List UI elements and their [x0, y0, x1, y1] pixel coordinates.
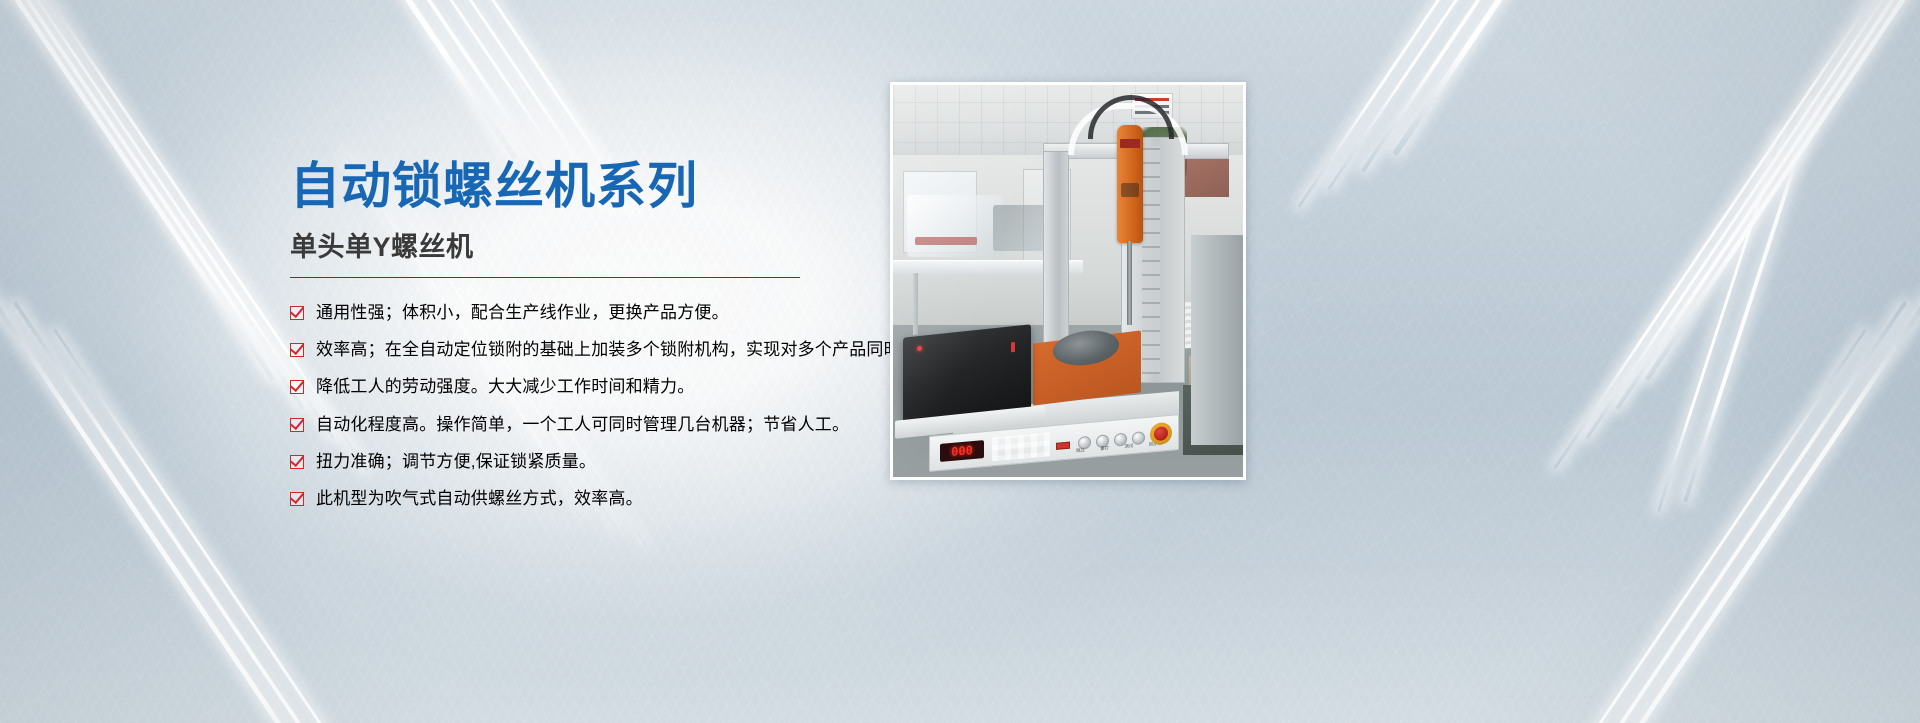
- light-streak: [1645, 0, 1920, 381]
- light-streak: [1297, 0, 1590, 208]
- feature-text: 通用性强；体积小，配合生产线作业，更换产品方便。: [316, 302, 729, 323]
- checkmark-icon: [290, 455, 304, 469]
- light-streak: [222, 0, 518, 160]
- title-divider: [290, 277, 800, 278]
- light-streak: [0, 0, 335, 439]
- light-streak: [1552, 271, 1920, 723]
- label-skip: 跳过: [1076, 447, 1085, 454]
- checkmark-icon: [290, 306, 304, 320]
- label-test: 测试: [1125, 443, 1134, 450]
- feature-text: 扭力准确；调节方便,保证锁紧质量。: [316, 451, 596, 472]
- light-streak: [0, 0, 275, 381]
- light-streak: [1585, 0, 1920, 439]
- feeder-indicator-icon: [1011, 342, 1015, 352]
- checkmark-icon: [290, 492, 304, 506]
- product-photo: 000 跳过 重打 测试 回原点: [890, 82, 1246, 480]
- feature-text: 效率高；在全自动定位锁附的基础上加装多个锁附机构，实现对多个产品同时锁附。: [316, 339, 952, 360]
- list-item: 扭力准确；调节方便,保证锁紧质量。: [290, 451, 890, 472]
- light-streak: [1615, 0, 1920, 410]
- light-streak: [1513, 301, 1908, 723]
- light-streak: [1361, 0, 1655, 173]
- light-streak: [1473, 328, 1867, 723]
- photo-electric-screwdriver: [1117, 125, 1143, 243]
- checkmark-icon: [290, 343, 304, 357]
- photo-background-equipment: [907, 195, 1003, 257]
- list-item: 效率高；在全自动定位锁附的基础上加装多个锁附机构，实现对多个产品同时锁附。: [290, 339, 890, 360]
- light-streak: [1392, 0, 1688, 156]
- product-banner: 自动锁螺丝机系列 单头单Y螺丝机 通用性强；体积小，配合生产线作业，更换产品方便…: [0, 0, 1920, 723]
- feature-text: 降低工人的劳动强度。大大减少工作时间和精力。: [316, 376, 694, 397]
- photo-background-red-object: [915, 237, 977, 245]
- feature-text: 此机型为吹气式自动供螺丝方式，效率高。: [316, 488, 643, 509]
- photo-machine-right-panel: [1191, 235, 1243, 445]
- digital-display: 000: [940, 440, 984, 462]
- checkmark-icon: [290, 418, 304, 432]
- light-streak: [0, 0, 305, 410]
- page-title: 自动锁螺丝机系列: [290, 160, 890, 213]
- light-streak: [255, 0, 549, 177]
- power-switch[interactable]: [1056, 442, 1070, 450]
- photo-screwdriver-bit: [1127, 241, 1132, 325]
- light-streak: [1327, 0, 1620, 190]
- list-item: 此机型为吹气式自动供螺丝方式，效率高。: [290, 488, 890, 509]
- light-streak: [1553, 0, 1902, 469]
- feature-text: 自动化程度高。操作简单，一个工人可同时管理几台机器；节省人工。: [316, 414, 849, 435]
- emergency-stop-button[interactable]: [1150, 422, 1172, 446]
- feature-list: 通用性强；体积小，配合生产线作业，更换产品方便。 效率高；在全自动定位锁附的基础…: [290, 302, 890, 510]
- light-streak: [1683, 102, 1817, 503]
- feeder-led-icon: [917, 346, 922, 352]
- display-value: 000: [951, 444, 973, 458]
- list-item: 通用性强；体积小，配合生产线作业，更换产品方便。: [290, 302, 890, 323]
- page-subtitle: 单头单Y螺丝机: [290, 231, 890, 263]
- label-redo: 重打: [1100, 445, 1109, 452]
- list-item: 自动化程度高。操作简单，一个工人可同时管理几台机器；节省人工。: [290, 414, 890, 435]
- checkmark-icon: [290, 380, 304, 394]
- list-item: 降低工人的劳动强度。大大减少工作时间和精力。: [290, 376, 890, 397]
- product-photo-image: 000 跳过 重打 测试 回原点: [893, 85, 1243, 477]
- keypad[interactable]: [992, 432, 1050, 461]
- banner-content: 自动锁螺丝机系列 单头单Y螺丝机 通用性强；体积小，配合生产线作业，更换产品方便…: [290, 160, 890, 525]
- emergency-stop-icon: [1154, 426, 1168, 441]
- light-streak: [1657, 131, 1783, 512]
